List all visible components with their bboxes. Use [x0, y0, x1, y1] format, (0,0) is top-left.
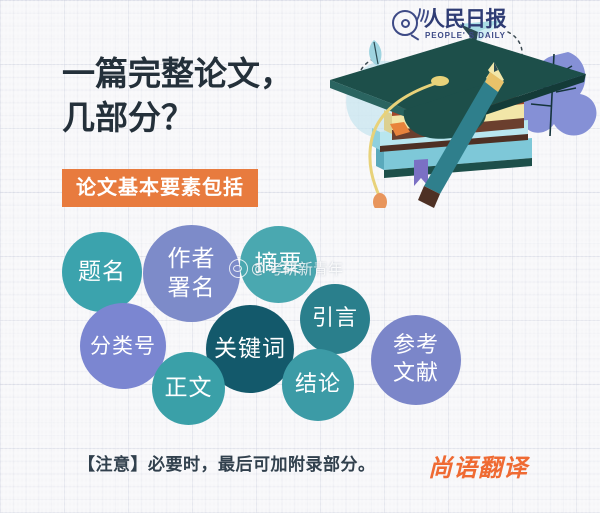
bubble-label-line: 署名 [168, 274, 216, 303]
footer-note: 【注意】必要时，最后可加附录部分。 [78, 450, 376, 475]
poster-root: 人民日报 PEOPLE' S DAILY 一篇完整论文， 几部分？ 论文基本要素… [0, 0, 600, 513]
section-banner: 论文基本要素包括 [62, 169, 258, 207]
bubble-label-line: 作者 [168, 245, 216, 274]
bubble-label-line: 分类号 [90, 333, 156, 360]
bubble-label: 关键词 [214, 335, 286, 364]
bubble-label: 题名 [78, 258, 126, 287]
peoples-daily-logo: 人民日报 PEOPLE' S DAILY [392, 8, 512, 48]
bubble-8: 参考文献 [371, 315, 461, 405]
bubble-5: 引言 [300, 284, 370, 354]
watermark-text: 考研新青年 [268, 258, 343, 279]
bubble-label-line: 关键词 [214, 335, 286, 364]
footer-brand: 尚语翻译 [428, 448, 528, 483]
tassel-knob [373, 193, 387, 208]
bubble-label: 结论 [295, 371, 341, 399]
logo-name-cn: 人民日报 [424, 8, 506, 31]
bookmark [414, 159, 428, 186]
bubble-label-line: 题名 [78, 258, 126, 287]
weibo-icon [229, 259, 248, 278]
watermark-at-icon: @ [251, 262, 265, 276]
bubble-label-line: 结论 [295, 371, 341, 399]
bubble-0: 题名 [62, 232, 142, 312]
at-symbol-tail [410, 34, 419, 41]
bubble-label-line: 正文 [165, 374, 213, 403]
weibo-watermark: @ 考研新青年 [229, 258, 343, 279]
bubble-1: 作者署名 [143, 225, 240, 322]
bubble-label-line: 引言 [312, 305, 358, 333]
bubble-label-line: 参考 [393, 332, 439, 360]
bubble-label: 作者署名 [168, 245, 216, 303]
page-title: 一篇完整论文， 几部分？ [62, 52, 362, 140]
bubble-label: 参考文献 [393, 332, 439, 388]
bubble-6: 正文 [152, 352, 225, 425]
small-leaf-left [369, 40, 381, 66]
page-title-line2: 几部分？ [62, 96, 362, 140]
bubble-label: 分类号 [90, 333, 156, 360]
page-title-line1: 一篇完整论文， [62, 54, 293, 93]
logo-name-en: PEOPLE' S DAILY [425, 31, 506, 40]
bubble-label: 引言 [312, 305, 358, 333]
bubble-label-line: 文献 [393, 360, 439, 388]
bubble-7: 结论 [282, 349, 354, 421]
bubble-label: 正文 [165, 374, 213, 403]
